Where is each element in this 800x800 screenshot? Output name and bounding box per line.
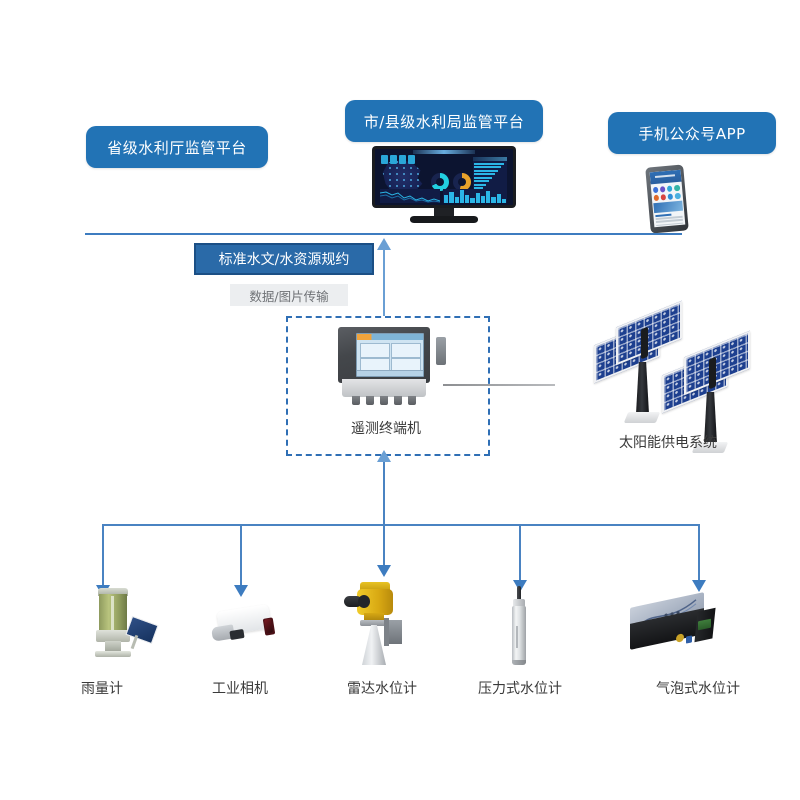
sensor-bus-stem <box>383 460 385 526</box>
data-transfer-box: 数据/图片传输 <box>230 284 348 306</box>
phone-body <box>645 164 689 233</box>
platform-app-label: 手机公众号APP <box>638 123 745 144</box>
monitor-stand <box>410 216 478 223</box>
rtu-cable-gland <box>394 396 402 405</box>
device-label-rain-gauge: 雨量计 <box>32 678 172 698</box>
phone-app-header <box>649 170 681 185</box>
monitor-bezel <box>372 146 516 208</box>
rtu-screen-cell <box>360 343 390 358</box>
antenna-rod-icon <box>443 384 555 386</box>
sensor-drop-line <box>240 524 242 587</box>
sensor-drop-line <box>102 524 104 587</box>
sensor-drop-line <box>698 524 700 582</box>
platform-province[interactable]: 省级水利厅监管平台 <box>86 126 268 168</box>
sensor-drop-line <box>383 524 385 567</box>
rtu-cable-gland <box>352 396 360 405</box>
rtu-base <box>342 379 426 397</box>
monitor-screen <box>375 149 513 205</box>
sensor-arrow-icon <box>234 585 248 597</box>
platform-app[interactable]: 手机公众号APP <box>608 112 776 154</box>
device-label-bubbler-level: 气泡式水位计 <box>628 678 768 698</box>
protocol-standard-box: 标准水文/水资源规约 <box>194 243 374 275</box>
rtu-screen-titlebar <box>357 334 423 340</box>
phone-screen <box>649 170 685 227</box>
rtu-label: 遥测终端机 <box>286 418 486 438</box>
rtu-screen-cell <box>391 343 421 358</box>
diagram-canvas: 省级水利厅监管平台 市/县级水利局监管平台 手机公众号APP <box>0 0 800 800</box>
dashboard-title-bar <box>413 150 475 154</box>
sensor-bus-line <box>102 524 700 526</box>
kpi-blocks <box>381 155 415 164</box>
smartphone-app-icon <box>648 166 686 232</box>
platform-backbone-line <box>85 233 682 235</box>
platform-city-label: 市/县级水利局监管平台 <box>364 111 525 132</box>
solar-system-label: 太阳能供电系统 <box>588 432 748 452</box>
sensor-arrow-icon <box>377 565 391 577</box>
solar-panel-icon <box>662 336 782 446</box>
solar-panel-spine <box>641 327 648 360</box>
solar-system-label-text: 太阳能供电系统 <box>619 435 717 451</box>
platform-city[interactable]: 市/县级水利局监管平台 <box>345 100 543 142</box>
rtu-screen-statusbar <box>357 370 423 376</box>
data-transfer-label: 数据/图片传输 <box>249 286 328 305</box>
solar-pole <box>636 362 649 414</box>
phone-icon-grid <box>652 185 680 201</box>
rtu-label-text: 遥测终端机 <box>351 421 421 437</box>
column-chart <box>443 189 507 203</box>
rtu-cable-gland <box>380 396 388 405</box>
rtu-inbound-arrow-icon <box>377 450 391 462</box>
solar-base <box>624 412 660 423</box>
rtu-screen <box>356 333 424 377</box>
bubbler-level-gauge-icon <box>626 590 718 652</box>
monitor-dashboard-icon <box>372 146 516 228</box>
camera-icon <box>206 604 282 656</box>
sensor-drop-line <box>519 524 521 582</box>
line-chart <box>380 189 440 203</box>
phone-banner <box>653 201 683 213</box>
device-label-radar-level: 雷达水位计 <box>312 678 452 698</box>
horizontal-bar-chart <box>473 161 507 189</box>
platform-province-label: 省级水利厅监管平台 <box>107 137 247 158</box>
rtu-connector-panel <box>436 337 446 365</box>
rtu-enclosure <box>338 327 430 383</box>
uplink-arrow-icon <box>377 238 391 250</box>
uplink-line <box>383 248 385 316</box>
device-label-pressure-level: 压力式水位计 <box>450 678 590 698</box>
pressure-level-sensor-icon <box>506 586 534 666</box>
radar-level-gauge-icon <box>344 582 420 666</box>
device-label-industrial-camera: 工业相机 <box>170 678 310 698</box>
phone-list <box>655 213 683 225</box>
telemetry-terminal-icon <box>330 327 438 405</box>
rain-gauge-icon <box>78 588 164 660</box>
protocol-standard-label: 标准水文/水资源规约 <box>219 249 350 269</box>
rtu-cable-gland <box>408 396 416 405</box>
monitor-neck <box>434 208 454 216</box>
solar-panel-spine <box>709 357 716 390</box>
rtu-cable-gland <box>366 396 374 405</box>
